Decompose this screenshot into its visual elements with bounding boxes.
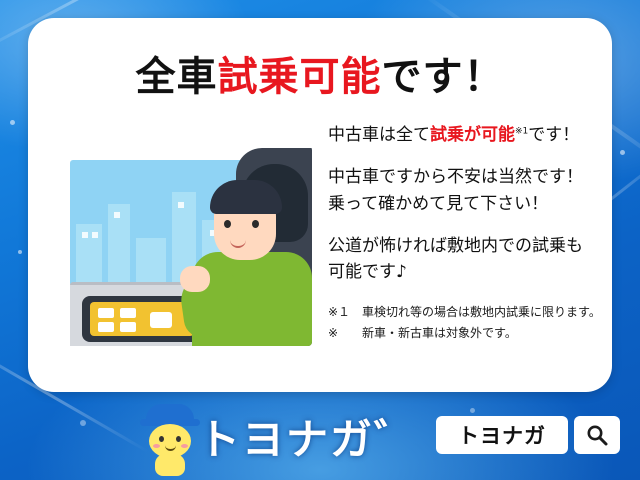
window-switch-3 xyxy=(98,322,114,332)
p1-text-b: です！ xyxy=(528,125,579,145)
p1-text-a: 中古車は全て xyxy=(328,125,430,145)
paragraph-1: 中古車は全て試乗が可能※1です！ xyxy=(328,122,614,148)
footnote-2: ※ 新車・新古車は対象外です。 xyxy=(328,323,614,344)
mascot-cheek-right xyxy=(181,444,188,448)
window-switch-2 xyxy=(120,308,136,318)
brand-logo-dakuten: ゛ xyxy=(374,415,418,464)
mirror-switch xyxy=(150,312,172,328)
p3-line-2: 可能です♪ xyxy=(328,262,407,282)
brand-logo: トヨナガ゛ xyxy=(198,406,428,462)
building-1 xyxy=(76,224,102,286)
bottom-bar: トヨナガ゛ トヨナガ xyxy=(0,396,640,480)
search-icon xyxy=(585,423,609,447)
paragraph-2: 中古車ですから不安は当然です！ 乗って確かめて見て下さい！ xyxy=(328,164,614,217)
footnote-1: ※１ 車検切れ等の場合は敷地内試乗に限ります。 xyxy=(328,302,614,323)
person-hand xyxy=(180,266,210,292)
bg-dot-2 xyxy=(18,250,22,254)
building-3 xyxy=(136,238,166,286)
window-switch-4 xyxy=(120,322,136,332)
building-window-4 xyxy=(178,202,184,208)
building-window-3 xyxy=(114,212,120,218)
paragraph-3: 公道が怖ければ敷地内での試乗も 可能です♪ xyxy=(328,233,614,286)
brand-logo-text: トヨナガ xyxy=(198,415,374,464)
bg-dot-1 xyxy=(10,120,15,125)
content-card: 全車試乗可能です！ xyxy=(28,18,612,392)
p3-line-1: 公道が怖ければ敷地内での試乗も xyxy=(328,236,583,256)
search-button[interactable] xyxy=(574,416,620,454)
search-input-value: トヨナガ xyxy=(458,420,546,450)
person-eye-right xyxy=(252,220,259,228)
mascot-cheek-left xyxy=(153,444,160,448)
p1-footnote-marker: ※1 xyxy=(515,126,528,136)
headline-part-2: 試乗可能 xyxy=(218,54,382,100)
p2-line-2: 乗って確かめて見て下さい！ xyxy=(328,194,548,214)
mascot-eye-right xyxy=(176,436,181,442)
p2-line-1: 中古車ですから不安は当然です！ xyxy=(328,167,583,187)
p1-highlight: 試乗が可能 xyxy=(430,125,515,145)
window-switch-1 xyxy=(98,308,114,318)
building-window-2 xyxy=(92,232,98,238)
building-window-1 xyxy=(82,232,88,238)
page-title: 全車試乗可能です！ xyxy=(28,44,612,102)
bg-dot-3 xyxy=(620,150,625,155)
search-input[interactable]: トヨナガ xyxy=(436,416,568,454)
headline-part-1: 全車 xyxy=(136,54,218,100)
mascot-eye-left xyxy=(159,436,164,442)
mascot-face xyxy=(149,424,191,458)
mascot-body xyxy=(155,454,185,476)
body-copy: 中古車は全て試乗が可能※1です！ 中古車ですから不安は当然です！ 乗って確かめて… xyxy=(328,122,614,344)
promo-banner: 全車試乗可能です！ xyxy=(0,0,640,480)
person-hair-front xyxy=(210,180,282,214)
toyonaga-mascot-icon xyxy=(140,404,200,476)
headline-part-3: です！ xyxy=(382,54,505,100)
car-window xyxy=(64,146,312,346)
person-eye-left xyxy=(224,220,231,228)
driver-in-car-illustration xyxy=(64,146,312,346)
